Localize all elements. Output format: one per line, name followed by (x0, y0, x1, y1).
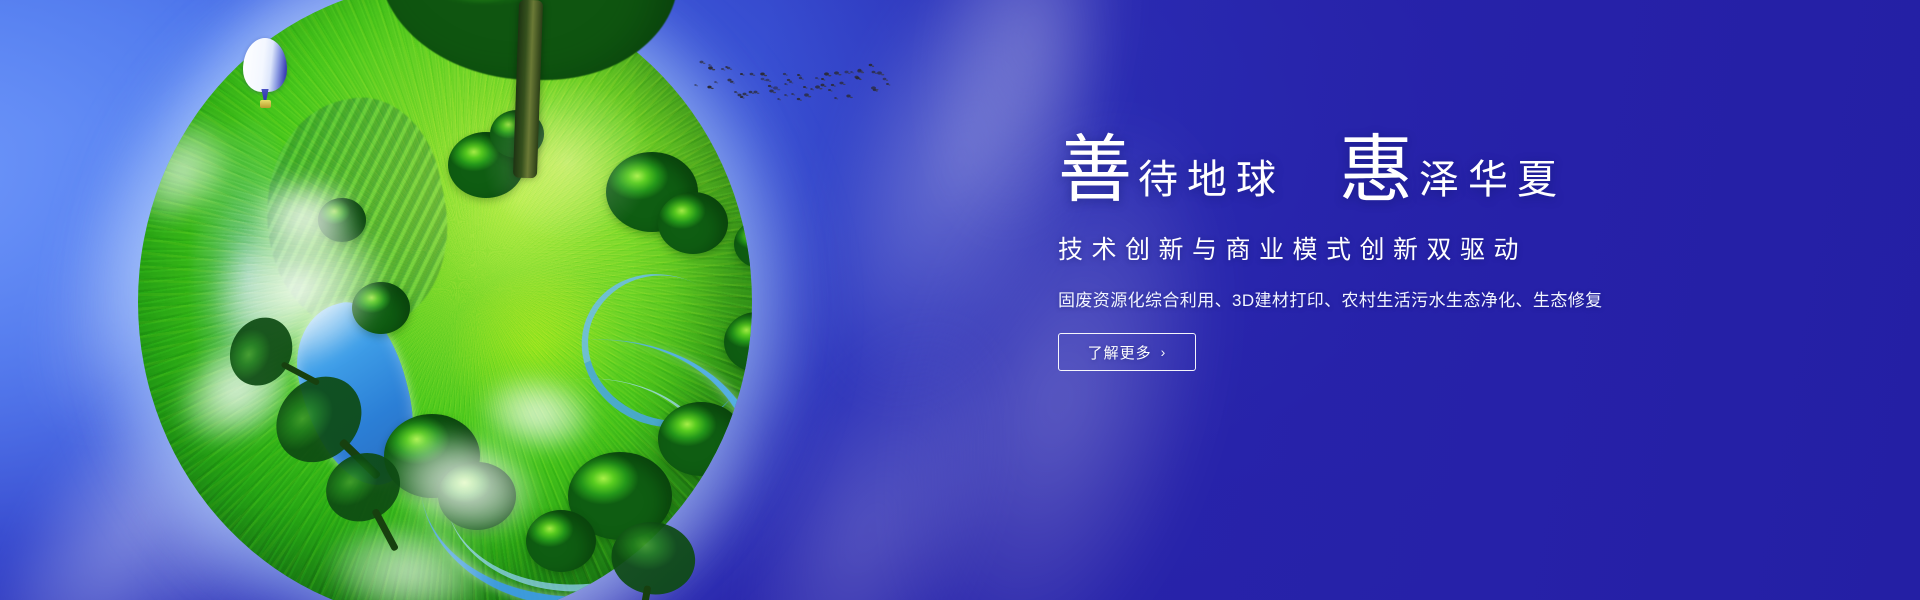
tree-bush-icon (318, 198, 366, 242)
tree-bush-icon (724, 312, 752, 372)
banner-description: 固废资源化综合利用、3D建材打印、农村生活污水生态净化、生态修复 (1058, 286, 1678, 311)
river-branch (555, 246, 752, 455)
banner-subtitle: 技术创新与商业模式创新双驱动 (1058, 230, 1678, 266)
headline-part2-emphasis: 惠 (1339, 134, 1413, 208)
chevron-right-icon: › (1161, 344, 1167, 360)
tree-bush-icon (352, 282, 410, 334)
hero-banner: 善 待地球 惠 泽华夏 技术创新与商业模式创新双驱动 固废资源化综合利用、3D建… (0, 0, 1920, 600)
banner-copy: 善 待地球 惠 泽华夏 技术创新与商业模式创新双驱动 固废资源化综合利用、3D建… (1058, 132, 1678, 371)
hot-air-balloon-icon (243, 38, 287, 116)
tree-bush-icon (658, 192, 728, 254)
learn-more-label: 了解更多 (1088, 342, 1152, 363)
tree-bush-icon (658, 402, 744, 476)
learn-more-button[interactable]: 了解更多 › (1058, 333, 1196, 371)
headline-part1-rest: 待地球 (1138, 160, 1285, 200)
tree-bush-icon (734, 220, 752, 268)
tree-bush-icon (438, 462, 516, 530)
headline-part2-rest: 泽华夏 (1419, 160, 1566, 200)
page-title: 善 待地球 惠 泽华夏 (1058, 132, 1678, 206)
river-icon (407, 323, 752, 600)
large-tree-icon (378, 0, 678, 170)
headline-part1-emphasis: 善 (1058, 134, 1132, 208)
tree-bush-icon (526, 510, 596, 572)
bird-flock-icon (700, 48, 890, 112)
globe-meadow-patch (381, 203, 693, 490)
surface-cloud-icon (470, 364, 603, 463)
surface-cloud-icon (138, 93, 258, 248)
surface-cloud-icon (249, 174, 360, 257)
